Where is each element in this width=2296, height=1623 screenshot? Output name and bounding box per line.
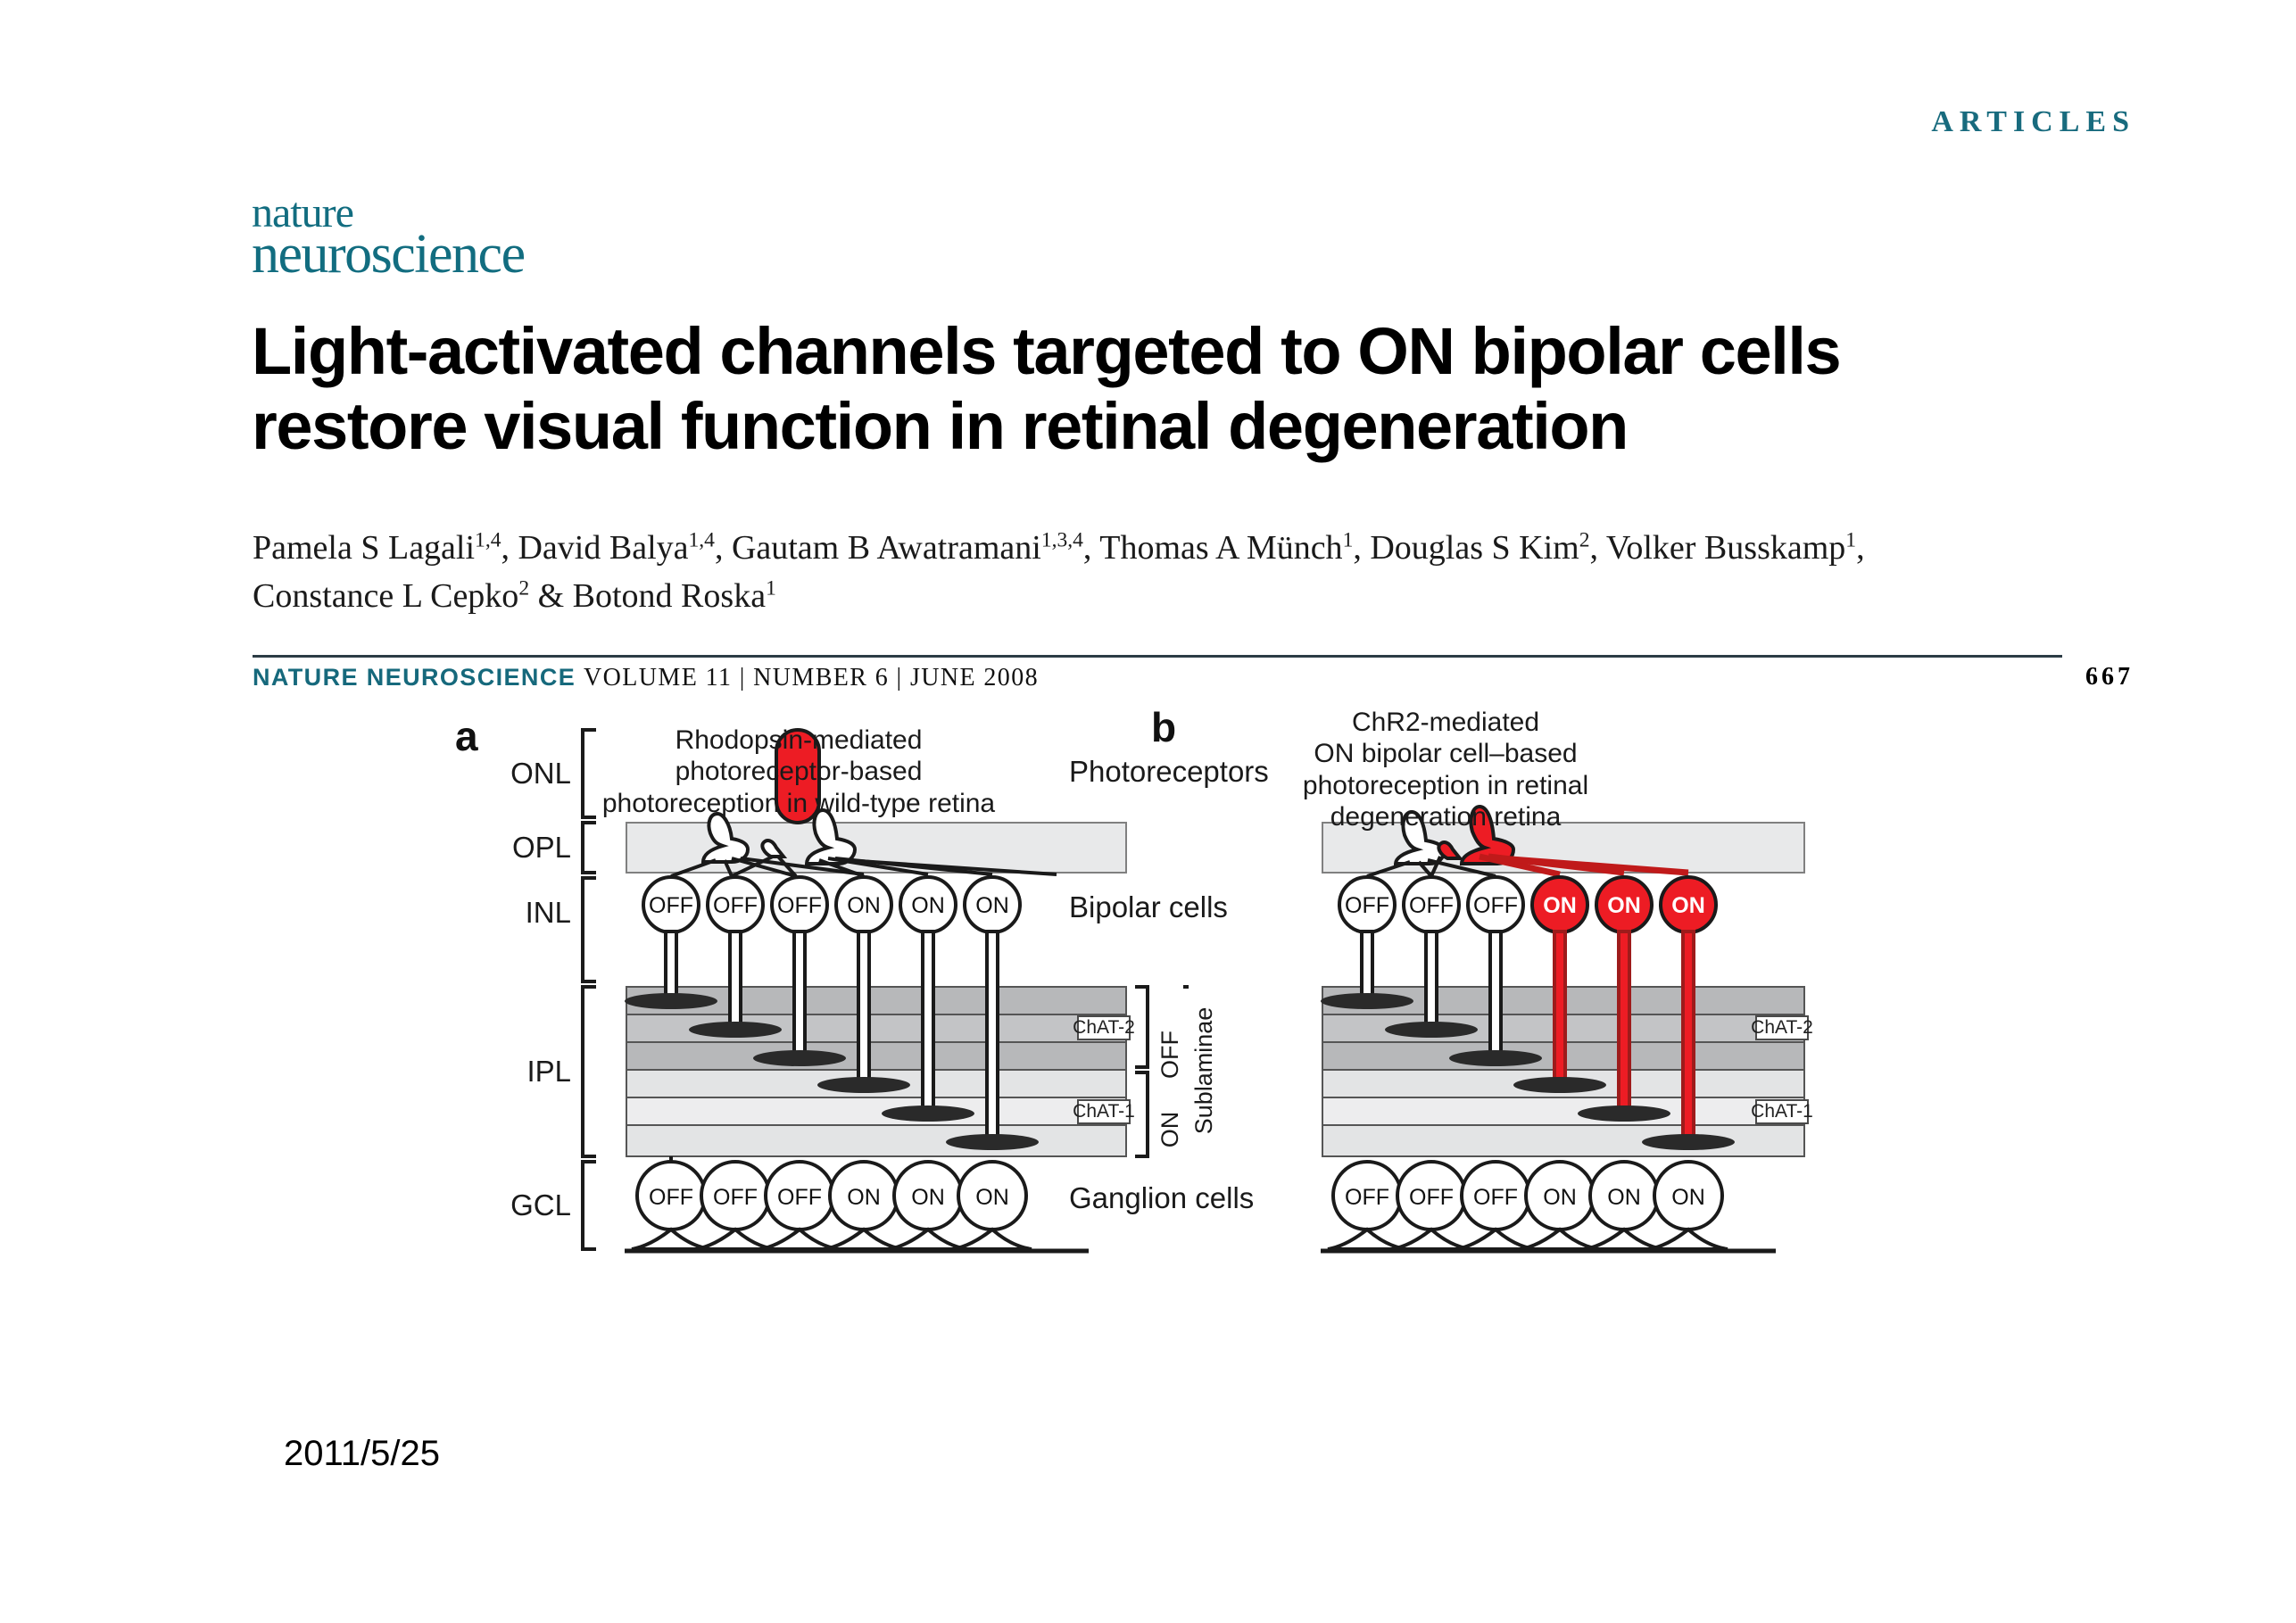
author-name: Gautam B Awatramani — [732, 529, 1041, 567]
retina-circuit-svg: OFF OFF OFF ON ON ON OFF OFF OFF ON ON O… — [464, 714, 1856, 1428]
author-name: Volker Busskamp — [1606, 529, 1845, 567]
author-affiliation-marker: 1 — [766, 576, 776, 600]
panel-a-bipolar-label-0: OFF — [649, 893, 693, 918]
panel-b-ganglion-label-2: OFF — [1473, 1185, 1518, 1210]
panel-b-chat1-label: ChAT-1 — [1751, 1101, 1813, 1122]
layer-label-opl: OPL — [446, 831, 571, 865]
panel-a-ganglion-label-5: ON — [975, 1185, 1009, 1210]
author-name: David Balya — [518, 529, 688, 567]
author-separator: , — [1589, 529, 1605, 567]
panel-a-caption-line-1: photoreceptor-based — [589, 756, 1008, 787]
panel-a-ganglion-label-3: ON — [847, 1185, 881, 1210]
panel-a-ganglion-label-1: OFF — [713, 1185, 758, 1210]
sublamina-off-label: OFF — [1156, 1031, 1183, 1079]
author-separator: & — [529, 577, 573, 615]
panel-b-ganglion-label-3: ON — [1543, 1185, 1577, 1210]
citation-details: VOLUME 11 | NUMBER 6 | JUNE 2008 — [584, 664, 1039, 691]
panel-b-bipolar-label-5: ON — [1671, 893, 1705, 918]
panel-b-caption-line-1: ON bipolar cell–based — [1249, 738, 1642, 769]
panel-a-caption-line-0: Rhodopsin-mediated — [589, 725, 1008, 756]
sublaminae-group-label: Sublaminae — [1190, 1007, 1217, 1135]
panel-a-bipolar-label-1: OFF — [713, 893, 758, 918]
citation-rule — [253, 655, 2062, 658]
journal-logo-line2: neuroscience — [252, 231, 525, 278]
author-affiliation-marker: 1,3,4 — [1041, 528, 1083, 551]
panel-b-letter: b — [1151, 703, 1176, 751]
panel-b-chat2-label: ChAT-2 — [1751, 1017, 1813, 1038]
layer-label-inl: INL — [446, 896, 571, 930]
author-affiliation-marker: 1 — [1343, 528, 1354, 551]
page-title: Light-activated channels targeted to ON … — [252, 314, 2063, 463]
panel-b-ganglion-label-4: ON — [1607, 1185, 1641, 1210]
author-name: Thomas A Münch — [1099, 529, 1342, 567]
author-affiliation-marker: 1 — [1845, 528, 1856, 551]
panel-a-ganglion-label-4: ON — [911, 1185, 945, 1210]
author-affiliation-marker: 2 — [518, 576, 529, 600]
cell-type-label-photoreceptors: Photoreceptors — [1069, 755, 1269, 789]
author-name: Pamela S Lagali — [253, 529, 475, 567]
panel-b-ganglion-label-5: ON — [1671, 1185, 1705, 1210]
author-name: Douglas S Kim — [1370, 529, 1579, 567]
layer-label-gcl: GCL — [446, 1188, 571, 1222]
author-affiliation-marker: 1,4 — [475, 528, 501, 551]
panel-b-bipolar-label-0: OFF — [1345, 893, 1389, 918]
layer-label-ipl: IPL — [446, 1055, 571, 1089]
panel-b-bipolar-label-4: ON — [1607, 893, 1641, 918]
layer-label-onl: ONL — [446, 757, 571, 791]
panel-a-ipl-bands — [626, 987, 1126, 1156]
panel-a-bipolar-label-4: ON — [911, 893, 945, 918]
panel-a-chat2-label: ChAT-2 — [1073, 1017, 1135, 1038]
journal-logo: nature neuroscience — [252, 195, 525, 279]
page-title-line1: Light-activated channels targeted to ON … — [252, 314, 2063, 389]
panel-a-sublaminae-brackets — [1135, 987, 1148, 1156]
panel-b-caption-line-0: ChR2-mediated — [1249, 707, 1642, 738]
citation-line: NATURE NEUROSCIENCE VOLUME 11 | NUMBER 6… — [253, 664, 1039, 692]
sublamina-on-label: ON — [1156, 1112, 1183, 1148]
panel-b-caption-line-3: degeneration retina — [1249, 801, 1642, 832]
panel-b-ganglion-label-0: OFF — [1345, 1185, 1389, 1210]
panel-b-caption-line-2: photoreception in retinal — [1249, 770, 1642, 801]
page-title-line2: restore visual function in retinal degen… — [252, 389, 2063, 464]
author-separator: , — [1083, 529, 1099, 567]
panel-a-caption: Rhodopsin-mediated photoreceptor-based p… — [589, 725, 1008, 819]
panel-b-caption: ChR2-mediated ON bipolar cell–based phot… — [1249, 707, 1642, 833]
author-affiliation-marker: 2 — [1579, 528, 1590, 551]
panel-a-bipolar-label-5: ON — [975, 893, 1009, 918]
author-separator: , — [715, 529, 732, 567]
articles-section-header: ARTICLES — [1931, 105, 2135, 139]
author-separator: , — [1856, 529, 1865, 567]
panel-b-ganglion-label-1: OFF — [1409, 1185, 1454, 1210]
author-affiliation-marker: 1,4 — [689, 528, 715, 551]
author-separator: , — [1353, 529, 1370, 567]
panel-a-bipolar-label-2: OFF — [777, 893, 822, 918]
panel-a-caption-line-2: photoreception in wild-type retina — [589, 788, 1008, 819]
sublaminae-labels: OFF ON Sublaminae — [1156, 1007, 1217, 1148]
panel-a-letter: a — [455, 712, 478, 760]
retina-circuit-figure: OFF OFF OFF ON ON ON OFF OFF OFF ON ON O… — [464, 714, 1856, 1428]
author-name: Botond Roska — [573, 577, 766, 615]
panel-a-ganglion-label-2: OFF — [777, 1185, 822, 1210]
author-list: Pamela S Lagali1,4, David Balya1,4, Gaut… — [253, 525, 1948, 621]
panel-a-ganglion-label-0: OFF — [649, 1185, 693, 1210]
date-stamp: 2011/5/25 — [284, 1434, 440, 1474]
panel-b-bipolar-label-2: OFF — [1473, 893, 1518, 918]
panel-b-bipolar-label-1: OFF — [1409, 893, 1454, 918]
citation-journal-name: NATURE NEUROSCIENCE — [253, 664, 576, 691]
panel-a-chat1-label: ChAT-1 — [1073, 1101, 1135, 1122]
cell-type-label-ganglion-cells: Ganglion cells — [1069, 1181, 1254, 1215]
panel-b-bipolar-label-3: ON — [1543, 893, 1577, 918]
author-name: Constance L Cepko — [253, 577, 518, 615]
panel-a-bipolar-label-3: ON — [847, 893, 881, 918]
cell-type-label-bipolar-cells: Bipolar cells — [1069, 890, 1228, 924]
page-number: 667 — [2085, 663, 2134, 691]
author-separator: , — [501, 529, 518, 567]
